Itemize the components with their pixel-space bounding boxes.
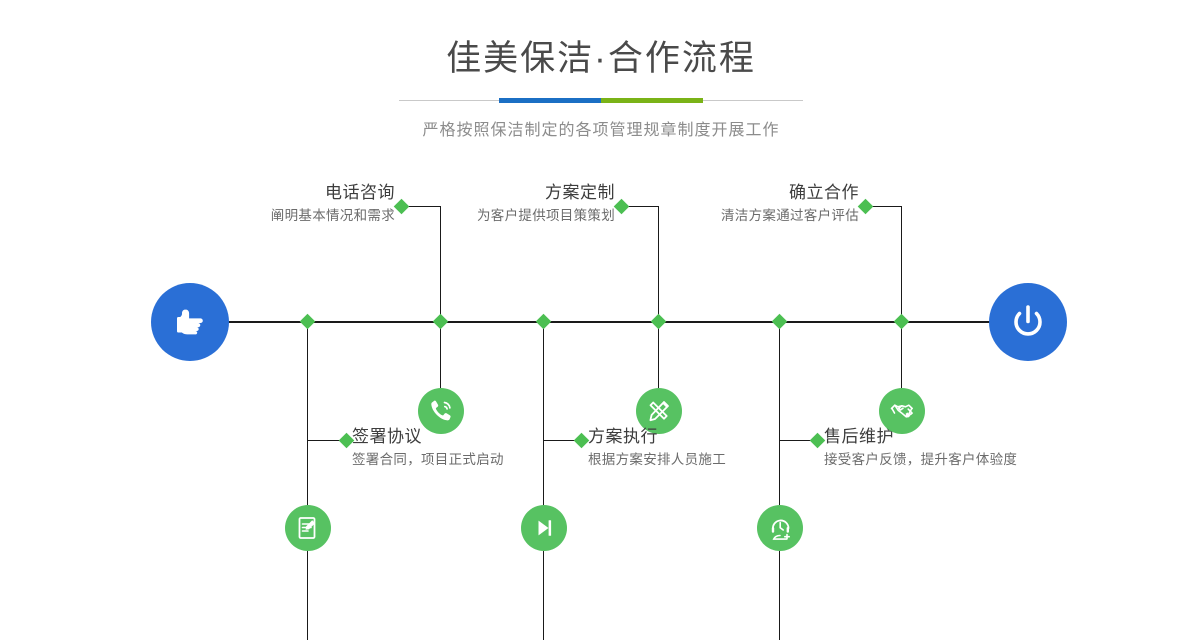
- step-label-4: 方案执行 根据方案安排人员施工: [588, 426, 848, 471]
- step-marker-3-label: [614, 199, 630, 215]
- step-desc-3: 为客户提供项目策策划: [395, 206, 615, 226]
- step-marker-1-axis: [433, 314, 449, 330]
- handshake-icon: [888, 397, 916, 425]
- step-desc-2: 签署合同，项目正式启动: [352, 450, 612, 470]
- step-marker-2-axis: [300, 314, 316, 330]
- step-connector-5-stem-upper: [779, 321, 780, 505]
- pointing-hand-icon: [169, 301, 211, 343]
- step-title-5: 售后维护: [824, 426, 1114, 447]
- step-connector-4-stem-upper: [543, 321, 544, 505]
- step-node-2[interactable]: [285, 505, 331, 551]
- step-title-1: 电话咨询: [160, 182, 395, 203]
- step-label-2: 签署协议 签署合同，项目正式启动: [352, 426, 612, 471]
- step-title-3: 方案定制: [395, 182, 615, 203]
- headset-support-icon: [767, 515, 794, 542]
- play-execute-icon: [531, 515, 557, 541]
- step-marker-5-axis: [772, 314, 788, 330]
- step-desc-4: 根据方案安排人员施工: [588, 450, 848, 470]
- step-label-1: 电话咨询 阐明基本情况和需求: [160, 182, 395, 227]
- step-node-4[interactable]: [521, 505, 567, 551]
- step-label-5: 售后维护 接受客户反馈，提升客户体验度: [824, 426, 1114, 471]
- step-node-6[interactable]: [879, 388, 925, 434]
- page-title: 佳美保洁·合作流程: [0, 0, 1202, 80]
- step-desc-6: 清洁方案通过客户评估: [640, 206, 859, 226]
- step-label-6: 确立合作 清洁方案通过客户评估: [640, 182, 859, 227]
- phone-call-icon: [427, 397, 455, 425]
- step-marker-3-axis: [651, 314, 667, 330]
- step-connector-2-stem-upper: [307, 321, 308, 505]
- page-subtitle: 严格按照保洁制定的各项管理规章制度开展工作: [0, 116, 1202, 140]
- step-node-5[interactable]: [757, 505, 803, 551]
- step-marker-6-axis: [894, 314, 910, 330]
- step-title-4: 方案执行: [588, 426, 848, 447]
- step-marker-4-axis: [536, 314, 552, 330]
- divider-segment-green: [601, 98, 703, 103]
- step-connector-6-vertical-lower: [901, 356, 902, 388]
- divider-segment-blue: [499, 98, 601, 103]
- step-marker-6-label: [858, 199, 874, 215]
- title-divider: [399, 96, 803, 106]
- step-connector-1-vertical-lower: [440, 356, 441, 388]
- step-connector-6-stem: [901, 206, 902, 356]
- document-pencil-icon: [295, 515, 321, 541]
- step-title-6: 确立合作: [640, 182, 859, 203]
- step-connector-4-stem-lower: [543, 551, 544, 640]
- pencil-ruler-icon: [645, 397, 673, 425]
- power-icon: [1006, 300, 1050, 344]
- timeline-end-node: [989, 283, 1067, 361]
- step-connector-3-vertical-lower: [658, 356, 659, 388]
- process-timeline: 电话咨询 阐明基本情况和需求 签署协议 签署合同，项目正式启动: [0, 150, 1202, 502]
- step-connector-1-stem: [440, 206, 441, 356]
- timeline-start-node: [151, 283, 229, 361]
- step-connector-3-stem: [658, 206, 659, 356]
- page-header: 佳美保洁·合作流程 严格按照保洁制定的各项管理规章制度开展工作: [0, 0, 1202, 140]
- step-connector-5-stem-lower: [779, 551, 780, 640]
- step-connector-2-stem-lower: [307, 551, 308, 640]
- step-title-2: 签署协议: [352, 426, 612, 447]
- step-desc-1: 阐明基本情况和需求: [160, 206, 395, 226]
- step-desc-5: 接受客户反馈，提升客户体验度: [824, 450, 1114, 470]
- step-label-3: 方案定制 为客户提供项目策策划: [395, 182, 615, 227]
